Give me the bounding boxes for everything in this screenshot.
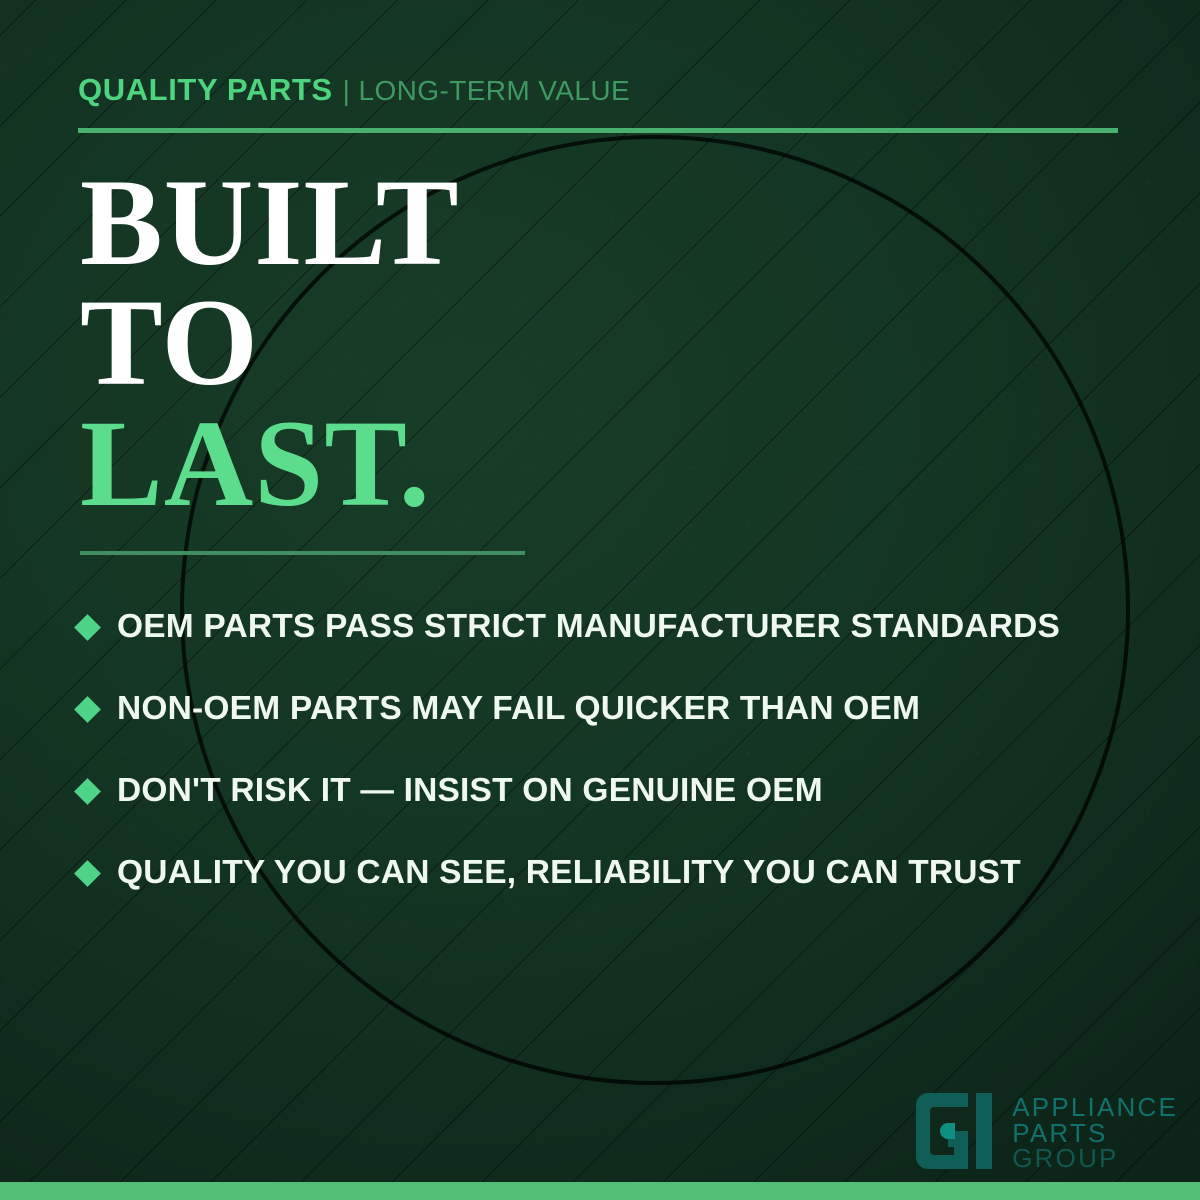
list-item-label: NON-OEM PARTS MAY FAIL QUICKER THAN OEM [117, 690, 920, 728]
list-item: QUALITY YOU CAN SEE, RELIABILITY YOU CAN… [78, 832, 1148, 914]
headline-line-3: LAST. [80, 404, 460, 524]
kicker-sub-label: | LONG-TERM VALUE [343, 75, 630, 107]
kicker-main-label: QUALITY PARTS [78, 72, 333, 108]
headline: BUILT TO LAST. [80, 163, 460, 524]
logo-word-appliance: APPLIANCE [1012, 1095, 1178, 1120]
top-divider-rule [78, 128, 1118, 133]
headline-line-2: TO [80, 283, 460, 403]
logo-word-group: GROUP [1012, 1146, 1178, 1171]
list-item-label: QUALITY YOU CAN SEE, RELIABILITY YOU CAN… [117, 854, 1021, 892]
list-item-label: DON'T RISK IT — INSIST ON GENUINE OEM [117, 772, 823, 810]
bullet-list: OEM PARTS PASS STRICT MANUFACTURER STAND… [78, 586, 1148, 914]
diamond-bullet-icon [74, 860, 101, 887]
poster-canvas: QUALITY PARTS | LONG-TERM VALUE BUILT TO… [0, 0, 1200, 1200]
headline-line-1: BUILT [80, 163, 460, 283]
list-item: NON-OEM PARTS MAY FAIL QUICKER THAN OEM [78, 668, 1148, 750]
diamond-bullet-icon [74, 778, 101, 805]
list-item: OEM PARTS PASS STRICT MANUFACTURER STAND… [78, 586, 1148, 668]
logo-g-mark-icon [914, 1091, 1000, 1176]
diamond-bullet-icon [74, 614, 101, 641]
list-item: DON'T RISK IT — INSIST ON GENUINE OEM [78, 750, 1148, 832]
list-item-label: OEM PARTS PASS STRICT MANUFACTURER STAND… [117, 608, 1060, 646]
logo-wordmark: APPLIANCE PARTS GROUP [1012, 1095, 1178, 1171]
brand-logo: APPLIANCE PARTS GROUP [914, 1091, 1178, 1176]
poster-content: QUALITY PARTS | LONG-TERM VALUE BUILT TO… [0, 0, 1200, 1200]
bottom-accent-bar [0, 1182, 1200, 1200]
kicker: QUALITY PARTS | LONG-TERM VALUE [78, 72, 630, 108]
diamond-bullet-icon [74, 696, 101, 723]
mid-divider-rule [80, 551, 525, 555]
